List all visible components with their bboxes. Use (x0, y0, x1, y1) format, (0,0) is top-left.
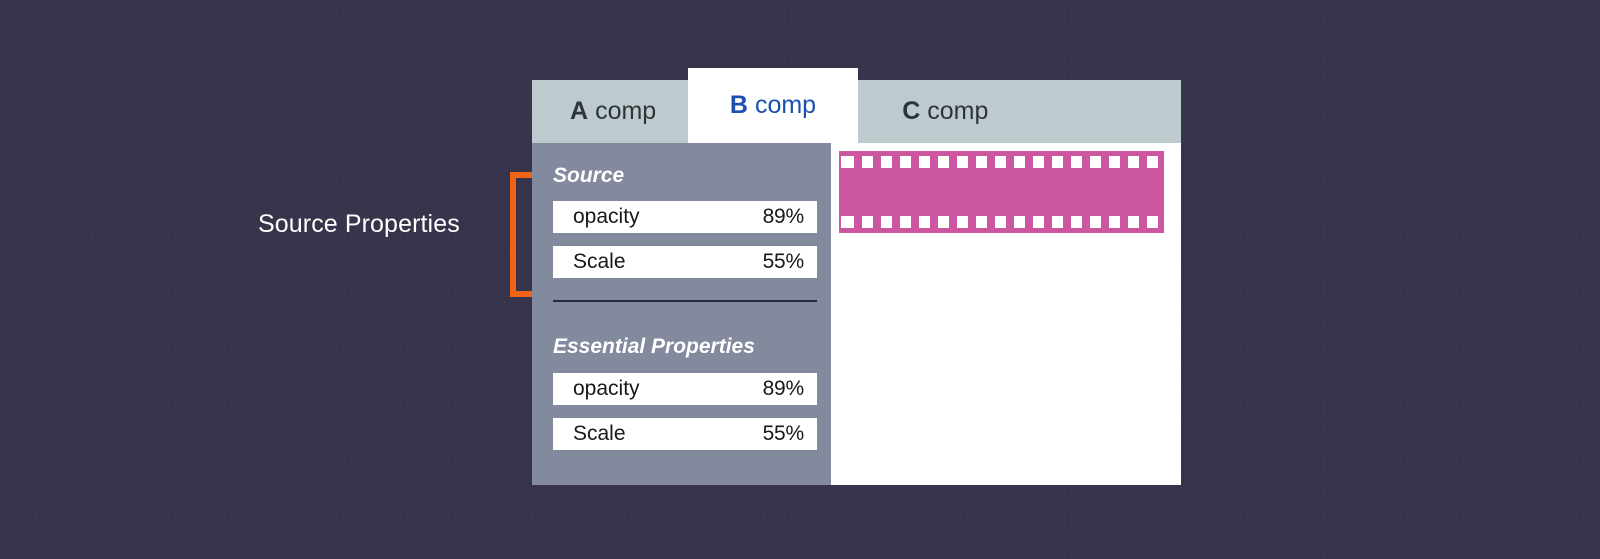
tab-a-comp[interactable]: A comp (532, 80, 694, 143)
property-value[interactable]: 55% (763, 422, 804, 446)
annotation-label-source-properties: Source Properties (258, 210, 460, 239)
composition-window: A comp C comp B comp Source opacity 89% … (532, 80, 1181, 485)
property-label: Scale (573, 250, 626, 274)
film-strip-clip[interactable] (839, 151, 1164, 233)
property-row-source-opacity[interactable]: opacity 89% (553, 201, 817, 233)
properties-panel: Source opacity 89% Scale 55% Essential P… (532, 143, 831, 485)
property-value[interactable]: 89% (763, 205, 804, 229)
section-heading-source: Source (553, 164, 624, 188)
tab-b-comp-active[interactable]: B comp (688, 68, 858, 143)
panel-divider (553, 300, 817, 302)
tab-a-comp-label: comp (595, 97, 656, 126)
property-row-essential-opacity[interactable]: opacity 89% (553, 373, 817, 405)
section-heading-essential-properties: Essential Properties (553, 335, 755, 359)
tab-b-comp-initial: B (730, 91, 748, 120)
tab-c-comp-initial: C (902, 97, 920, 126)
tab-c-comp[interactable]: C comp (864, 80, 1026, 143)
property-label: opacity (573, 205, 640, 229)
property-value[interactable]: 89% (763, 377, 804, 401)
property-label: opacity (573, 377, 640, 401)
tab-c-comp-label: comp (927, 97, 988, 126)
annotation-bracket-icon (508, 172, 534, 297)
tab-b-comp-label: comp (755, 91, 816, 120)
property-value[interactable]: 55% (763, 250, 804, 274)
property-label: Scale (573, 422, 626, 446)
property-row-essential-scale[interactable]: Scale 55% (553, 418, 817, 450)
tab-a-comp-initial: A (570, 97, 588, 126)
film-perforations-bottom (839, 216, 1164, 228)
film-perforations-top (839, 156, 1164, 168)
window-body: Source opacity 89% Scale 55% Essential P… (532, 143, 1181, 485)
property-row-source-scale[interactable]: Scale 55% (553, 246, 817, 278)
